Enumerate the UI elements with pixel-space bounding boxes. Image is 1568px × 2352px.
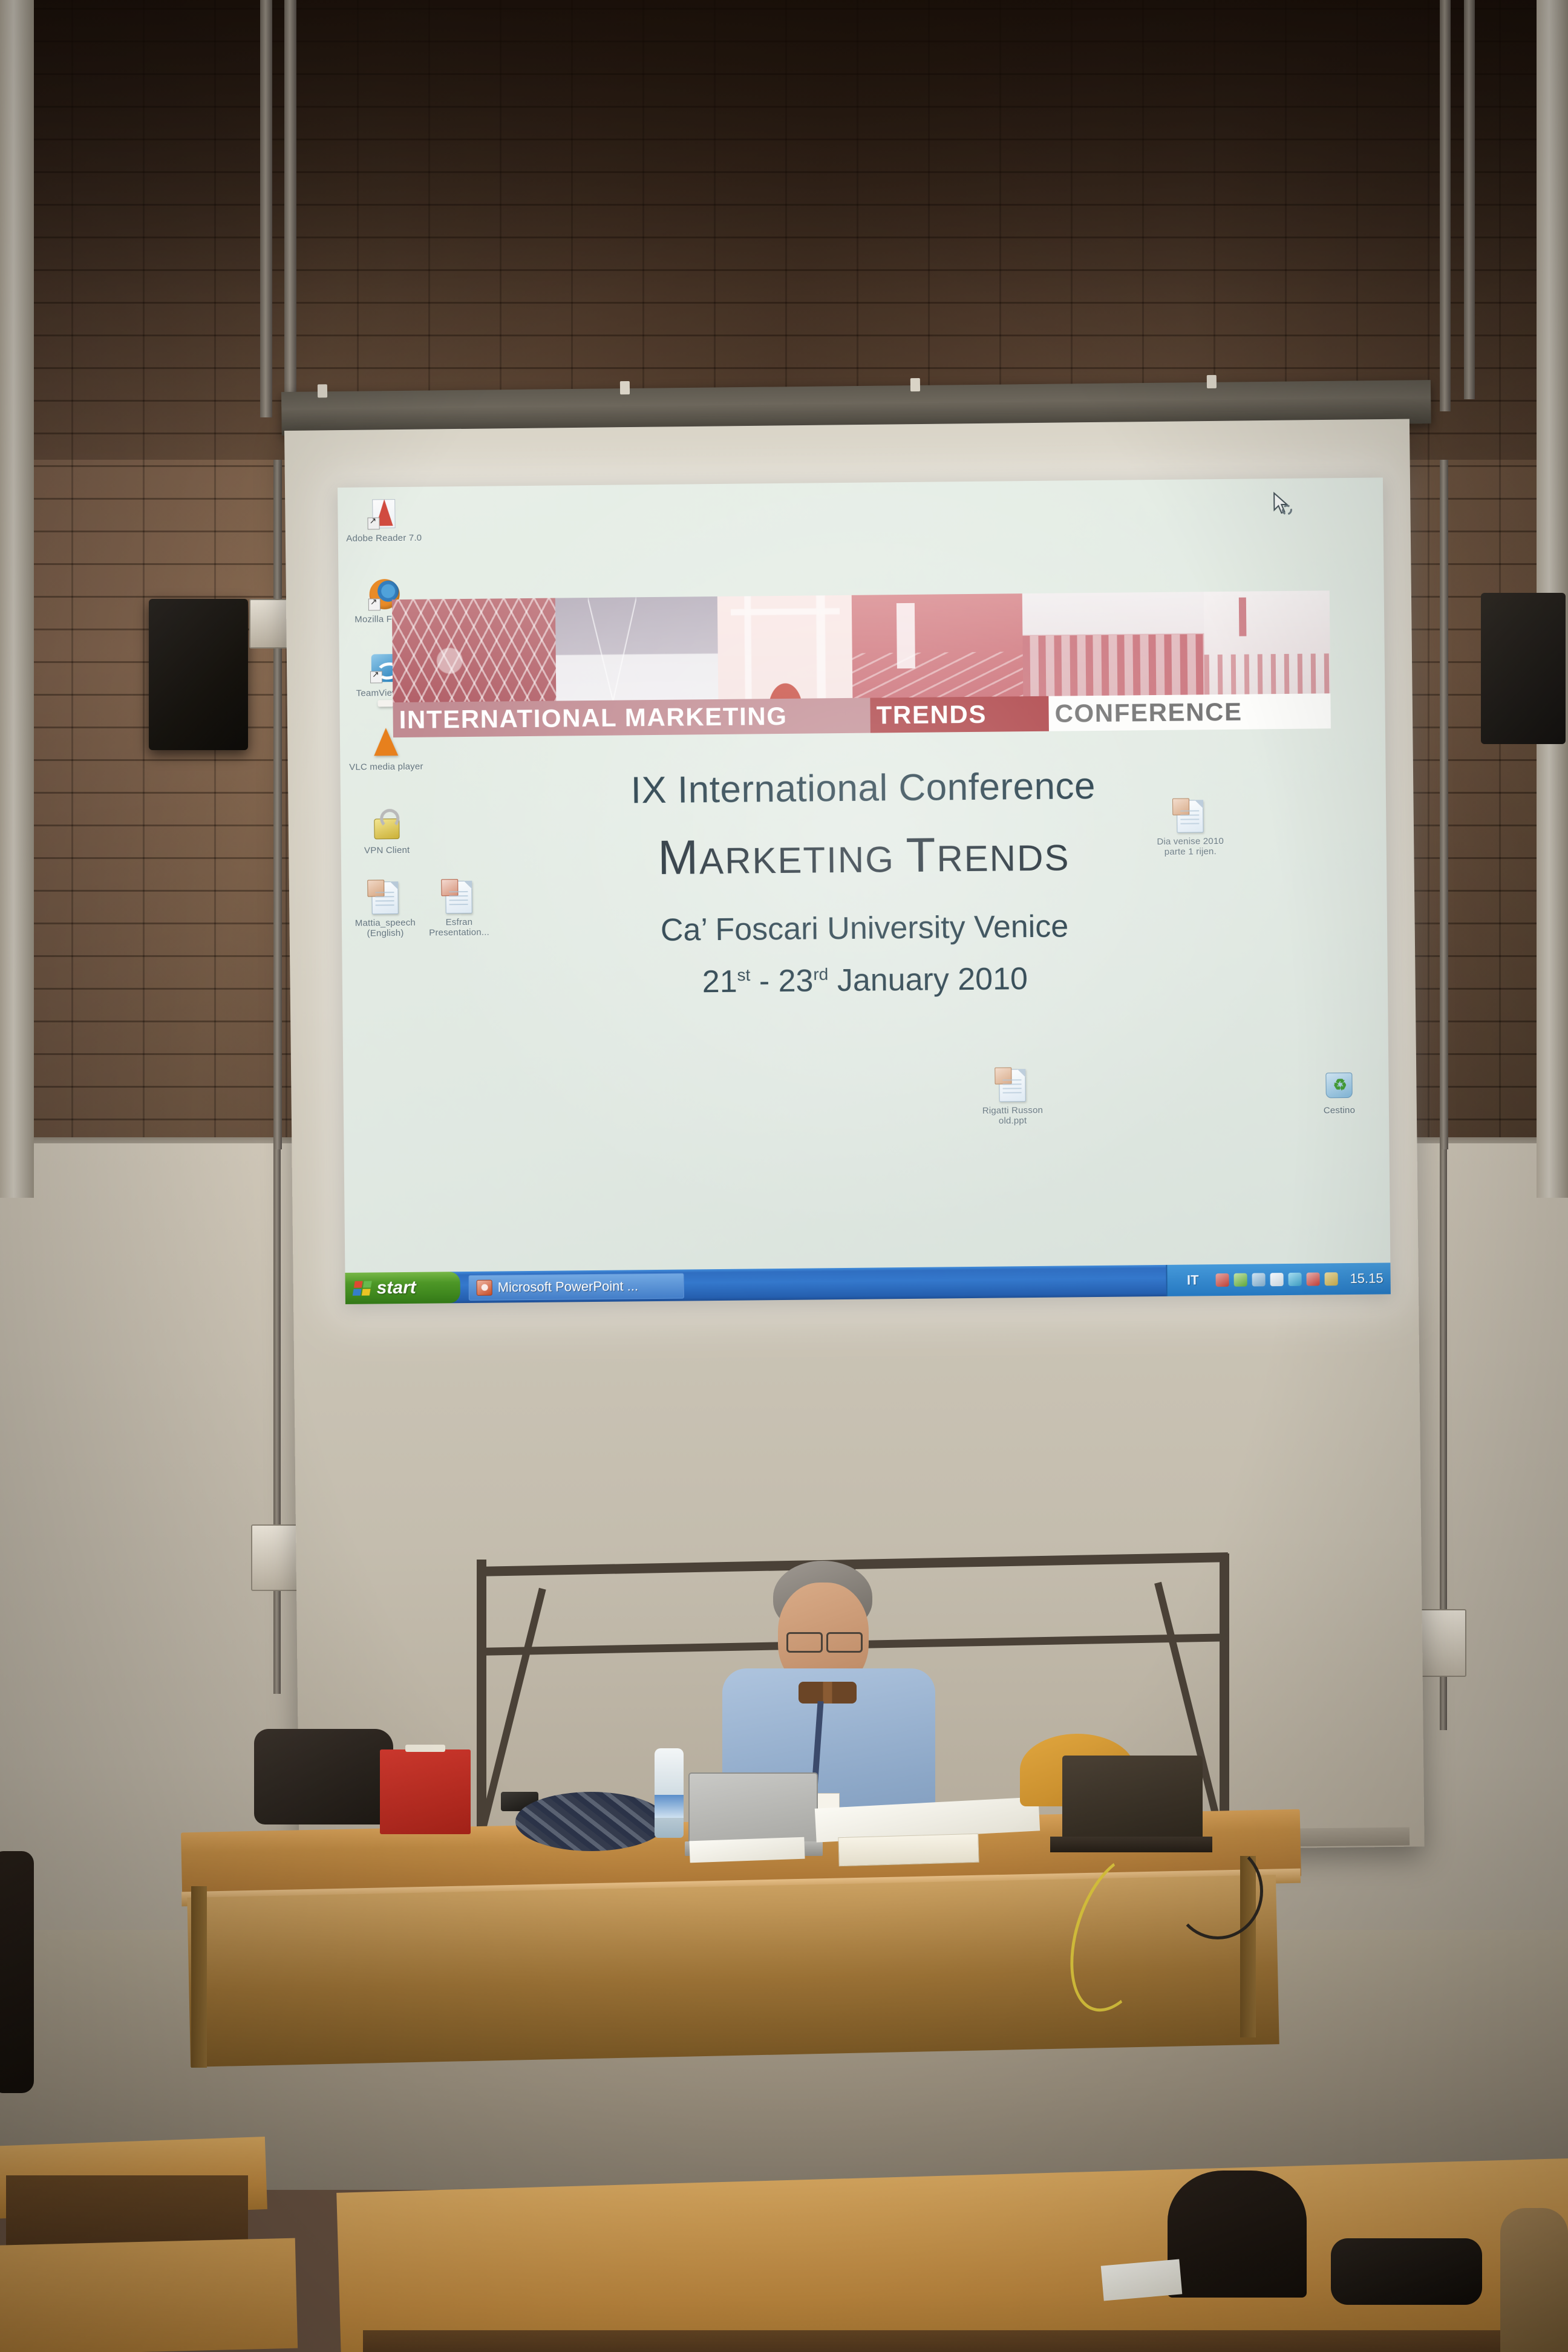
presenter-glasses	[786, 1632, 823, 1653]
banner-city-strip-cathedral	[555, 596, 719, 701]
conference-banner: INTERNATIONAL MARKETING TRENDS CONFERENC…	[392, 590, 1331, 737]
antivirus-icon[interactable]	[1215, 1273, 1229, 1287]
start-button[interactable]: start	[345, 1272, 460, 1304]
shoulder-bag	[254, 1729, 393, 1824]
slide-body: IX International Conference MARKETING TR…	[341, 762, 1388, 1004]
roller-clip	[620, 381, 630, 394]
slide-line-university: Ca’ Foscari University Venice	[342, 905, 1387, 952]
banner-city-strip-bridge	[392, 598, 557, 703]
conduit-left-b	[284, 0, 296, 399]
taskbar-item-label: Microsoft PowerPoint ...	[498, 1278, 639, 1295]
roller-clip	[318, 384, 327, 397]
slide-title-arketing: ARKETING	[699, 839, 906, 881]
railing-post-right	[1220, 1553, 1229, 1838]
arrow-busy-cursor	[1272, 492, 1293, 518]
red-case	[380, 1749, 471, 1834]
language-indicator[interactable]: IT	[1175, 1272, 1211, 1289]
desktop-icon-rigatti-russon[interactable]: Rigatti Russon old.ppt	[972, 1068, 1053, 1127]
slide-line-dates: 21st - 23rd January 2010	[342, 957, 1388, 1004]
desktop-icon-label: Cestino	[1299, 1105, 1379, 1117]
shield-icon[interactable]	[1324, 1272, 1338, 1285]
standing-person-left-edge	[0, 1851, 34, 2093]
railing-post-left	[477, 1560, 486, 1838]
red-case-handle	[405, 1745, 445, 1752]
wall-speaker-right	[1481, 593, 1566, 744]
date-month-year: January 2010	[828, 961, 1028, 998]
date-start: 21	[702, 964, 737, 1000]
laptop-lid	[688, 1772, 818, 1846]
date-start-sup: st	[737, 965, 750, 984]
conduit-right-a	[1440, 0, 1451, 411]
wall-pillar-left	[0, 0, 34, 1198]
wall-socket-left	[251, 1524, 301, 1591]
roller-clip	[910, 378, 920, 391]
audience-bench-right-shadow	[363, 2330, 1568, 2352]
audience-paper	[1101, 2259, 1183, 2301]
conduit-left-a	[260, 0, 272, 417]
conduit-vertical-right	[1440, 460, 1448, 1149]
desktop-icon-adobe-reader[interactable]: Adobe Reader 7.0	[344, 495, 424, 544]
audience-bench-left-backrest	[0, 2238, 298, 2352]
recycle-bin-icon: ♻	[1321, 1068, 1357, 1103]
banner-segment-trends: TRENDS	[870, 696, 1048, 733]
slide-title-rends: RENDS	[936, 837, 1070, 879]
audience-belongings	[1331, 2238, 1482, 2305]
banner-city-strip-venice	[1204, 590, 1331, 694]
conduit-right-b	[1464, 0, 1475, 399]
alert-icon[interactable]	[1306, 1272, 1319, 1285]
wall-socket-right	[1416, 1609, 1466, 1677]
papers-stack-left	[689, 1837, 805, 1863]
roller-clip	[1207, 375, 1217, 388]
slide-title-t: T	[906, 828, 937, 882]
screenshot-root: Adobe Reader 7.0 Mozilla Firefox TeamVie…	[0, 0, 1568, 2352]
power-cable-dark	[1172, 1843, 1263, 1939]
bottle-label	[655, 1795, 684, 1818]
presenter-bowtie	[799, 1682, 857, 1704]
conduit-vertical-left	[273, 460, 282, 1149]
wall-speaker-left	[149, 599, 248, 750]
date-sep: - 23	[750, 963, 814, 999]
system-tray[interactable]: IT 15.15	[1166, 1263, 1391, 1296]
projected-windows-desktop[interactable]: Adobe Reader 7.0 Mozilla Firefox TeamVie…	[338, 477, 1391, 1304]
audience-person-right	[1500, 2208, 1568, 2352]
water-bottle	[655, 1748, 684, 1838]
presenter-table-leg-left	[191, 1886, 207, 2068]
audience-attendee-head	[1168, 2171, 1307, 2298]
powerpoint-icon	[477, 1280, 492, 1296]
taskbar-item-powerpoint[interactable]: Microsoft PowerPoint ...	[469, 1273, 684, 1301]
second-laptop-base	[1050, 1837, 1212, 1852]
presenter-glasses	[826, 1632, 863, 1653]
start-button-label: start	[377, 1278, 416, 1299]
slide-title-m: M	[658, 830, 699, 884]
slide-title-marketing-trends: MARKETING TRENDS	[341, 823, 1387, 889]
banner-city-strip-colonnade	[1022, 592, 1205, 696]
slide-line-conference: IX International Conference	[341, 762, 1387, 815]
windows-logo-icon	[353, 1281, 372, 1296]
date-end-sup: rd	[813, 965, 828, 984]
desktop-icon-label: Rigatti Russon old.ppt	[973, 1105, 1053, 1127]
second-laptop-lid[interactable]	[1062, 1756, 1203, 1841]
desktop-icon-recycle-bin[interactable]: ♻ Cestino	[1299, 1068, 1379, 1117]
banner-segment-international-marketing: INTERNATIONAL MARKETING	[393, 698, 871, 738]
taskbar-clock[interactable]: 15.15	[1342, 1270, 1383, 1287]
banner-segment-conference: CONFERENCE	[1048, 693, 1331, 731]
dark-scarf	[515, 1792, 667, 1851]
banner-city-strip-tower	[852, 593, 1024, 698]
volume-icon[interactable]	[1252, 1273, 1265, 1286]
conduit-floor-left	[273, 1149, 281, 1694]
adobe-reader-icon	[366, 495, 402, 531]
update-icon[interactable]	[1270, 1273, 1283, 1286]
presenter-name-card	[838, 1834, 979, 1866]
document-icon	[995, 1068, 1030, 1103]
desktop-icon-label: Adobe Reader 7.0	[344, 533, 424, 544]
network-icon[interactable]	[1233, 1273, 1247, 1287]
teamviewer-tray-icon[interactable]	[1288, 1273, 1301, 1286]
banner-city-strip-arc	[717, 595, 853, 699]
